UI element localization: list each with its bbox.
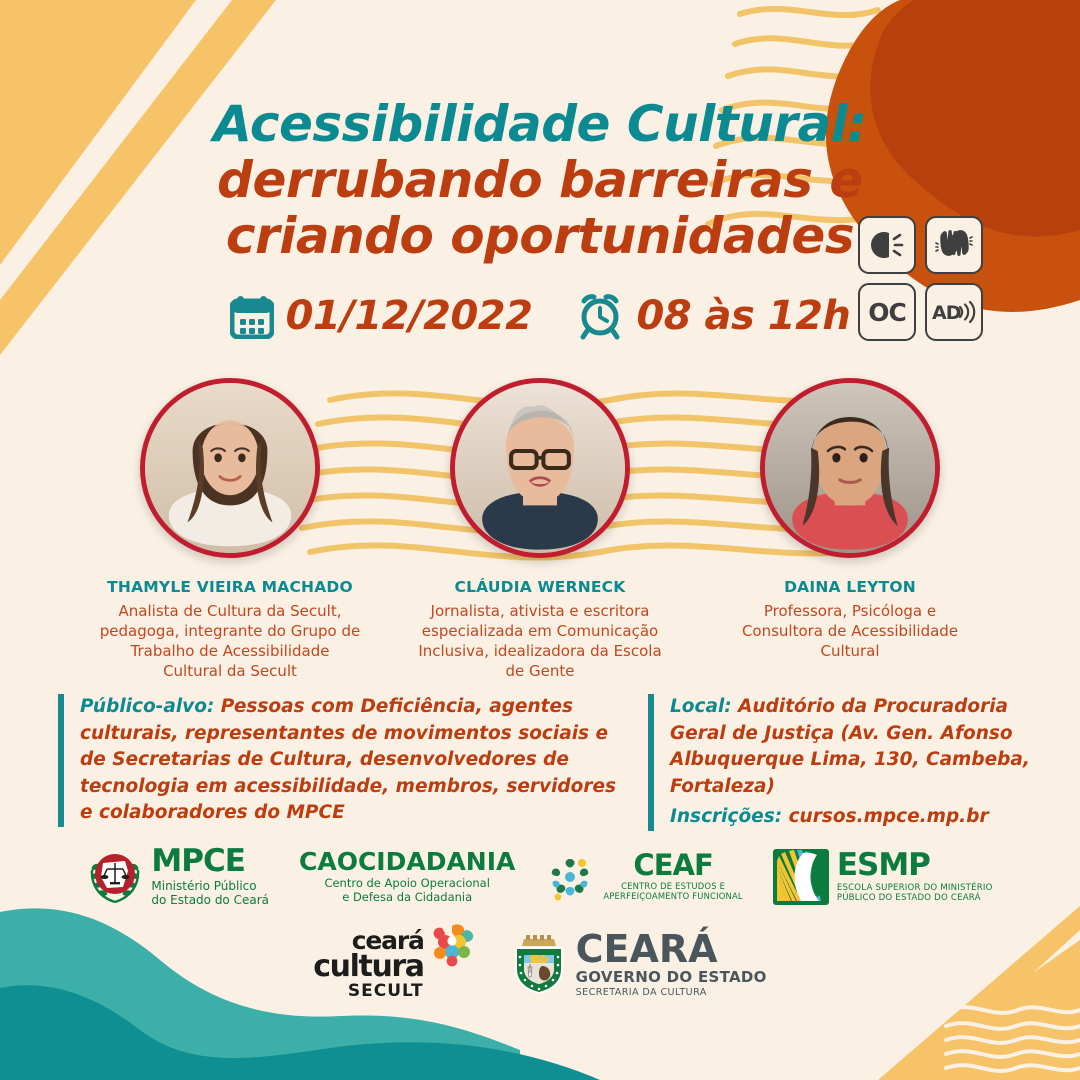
- speakers-list: THAMYLE VIEIRA MACHADO Analista de Cultu…: [0, 378, 1080, 681]
- logo-esmp-line1: ESCOLA SUPERIOR DO MINISTÉRIO: [837, 883, 993, 893]
- logo-governo-line1: GOVERNO DO ESTADO: [576, 970, 767, 985]
- logo-mpce-line2: do Estado do Ceará: [151, 893, 269, 907]
- speaker-photo-claudia: [450, 378, 630, 558]
- logo-esmp-acronym: ESMP: [837, 850, 993, 881]
- simultaneous-speech-icon: [858, 216, 916, 274]
- target-audience-block: Público-alvo: Pessoas com Deficiência, a…: [58, 694, 618, 827]
- speaker-name: DAINA LEYTON: [784, 578, 916, 596]
- logo-esmp: ESMP ESCOLA SUPERIOR DO MINISTÉRIO PÚBLI…: [773, 849, 993, 905]
- audio-description-icon: AD: [925, 283, 983, 341]
- logo-ceaf-acronym: CEAF: [633, 851, 712, 880]
- ceara-state-shield-icon: [510, 933, 568, 995]
- title-line-2: derrubando barreiras e: [0, 152, 1080, 208]
- logo-esmp-line2: PÚBLICO DO ESTADO DO CEARÁ: [837, 893, 993, 903]
- speaker-card: THAMYLE VIEIRA MACHADO Analista de Cultu…: [75, 378, 385, 681]
- speaker-photo-thamyle: [140, 378, 320, 558]
- accessibility-badges: OC AD: [858, 216, 983, 341]
- speaker-photo-daina: [760, 378, 940, 558]
- event-date-text: 01/12/2022: [286, 293, 533, 339]
- sign-language-libras-icon: [925, 216, 983, 274]
- logo-caocidadania-acronym: CAOCIDADANIA: [299, 849, 515, 874]
- speaker-name: CLÁUDIA WERNECK: [455, 578, 626, 596]
- event-time-text: 08 às 12h: [636, 293, 850, 339]
- ceara-cultura-flower-icon: [428, 922, 476, 968]
- svg-text:AD: AD: [932, 302, 961, 324]
- logo-ceaf-line2: APERFEIÇOAMENTO FUNCIONAL: [603, 892, 742, 902]
- logo-ceara-cultura-text: ceará cultura SECULT: [313, 928, 423, 1000]
- target-audience-label: Público-alvo:: [80, 696, 214, 717]
- logo-ceaf: CEAF CENTRO DE ESTUDOS E APERFEIÇOAMENTO…: [545, 851, 742, 902]
- registration-url[interactable]: cursos.mpce.mp.br: [782, 806, 988, 827]
- esmp-sunburst-icon: [773, 849, 829, 905]
- event-date: 01/12/2022: [230, 293, 533, 339]
- speaker-role: Professora, Psicóloga e Consultora de Ac…: [740, 601, 960, 661]
- logo-governo-ceara: CEARÁ GOVERNO DO ESTADO SECRETARIA DA CU…: [510, 930, 767, 998]
- speaker-card: CLÁUDIA WERNECK Jornalista, ativista e e…: [385, 378, 695, 681]
- logo-mpce-text: MPCE Ministério Público do Estado do Cea…: [151, 846, 269, 907]
- venue-label: Local:: [670, 696, 732, 717]
- partner-logos-row-2: ceará cultura SECULT: [0, 928, 1080, 1000]
- logo-esmp-text: ESMP ESCOLA SUPERIOR DO MINISTÉRIO PÚBLI…: [837, 850, 993, 903]
- speaker-role: Analista de Cultura da Secult, pedagoga,…: [99, 601, 361, 681]
- registration-paragraph[interactable]: Inscrições: cursos.mpce.mp.br: [670, 804, 1038, 831]
- logo-governo-line2: SECRETARIA DA CULTURA: [576, 987, 767, 998]
- logo-governo-ceara-text: CEARÁ GOVERNO DO ESTADO SECRETARIA DA CU…: [576, 930, 767, 998]
- target-audience-paragraph: Público-alvo: Pessoas com Deficiência, a…: [80, 694, 618, 827]
- logo-mpce-acronym: MPCE: [151, 846, 269, 877]
- ceaf-people-icon: [545, 853, 595, 901]
- open-caption-icon: OC: [858, 283, 916, 341]
- logo-caocidadania-text: CAOCIDADANIA Centro de Apoio Operacional…: [299, 849, 515, 904]
- partner-logos-row-1: MPCE Ministério Público do Estado do Cea…: [0, 846, 1080, 907]
- logo-governo-acronym: CEARÁ: [576, 930, 767, 968]
- title-line-1: Acessibilidade Cultural:: [0, 96, 1080, 152]
- speaker-name: THAMYLE VIEIRA MACHADO: [107, 578, 353, 596]
- logo-mpce-line1: Ministério Público: [151, 879, 269, 893]
- venue-paragraph: Local: Auditório da Procuradoria Geral d…: [670, 694, 1038, 800]
- logo-caocidadania-line2: e Defesa da Cidadania: [342, 891, 472, 905]
- speaker-role: Jornalista, ativista e escritora especia…: [418, 601, 662, 681]
- logo-ceaf-text: CEAF CENTRO DE ESTUDOS E APERFEIÇOAMENTO…: [603, 851, 742, 902]
- event-time: 08 às 12h: [576, 292, 850, 340]
- poster-canvas: Acessibilidade Cultural: derrubando barr…: [0, 0, 1080, 1080]
- logo-mpce: MPCE Ministério Público do Estado do Cea…: [87, 846, 269, 907]
- logo-caocidadania: CAOCIDADANIA Centro de Apoio Operacional…: [299, 849, 515, 904]
- alarm-clock-icon: [576, 292, 624, 340]
- speaker-card: DAINA LEYTON Professora, Psicóloga e Con…: [695, 378, 1005, 661]
- logo-ceara-cultura-line3: SECULT: [348, 983, 424, 1000]
- calendar-icon: [230, 293, 274, 339]
- logo-ceara-cultura-line2: cultura: [313, 952, 423, 982]
- logo-caocidadania-line1: Centro de Apoio Operacional: [324, 877, 489, 891]
- registration-label: Inscrições:: [670, 806, 782, 827]
- venue-registration-block: Local: Auditório da Procuradoria Geral d…: [648, 694, 1038, 831]
- mpce-crest-icon: [87, 849, 143, 905]
- logo-ceara-cultura: ceará cultura SECULT: [313, 928, 475, 1000]
